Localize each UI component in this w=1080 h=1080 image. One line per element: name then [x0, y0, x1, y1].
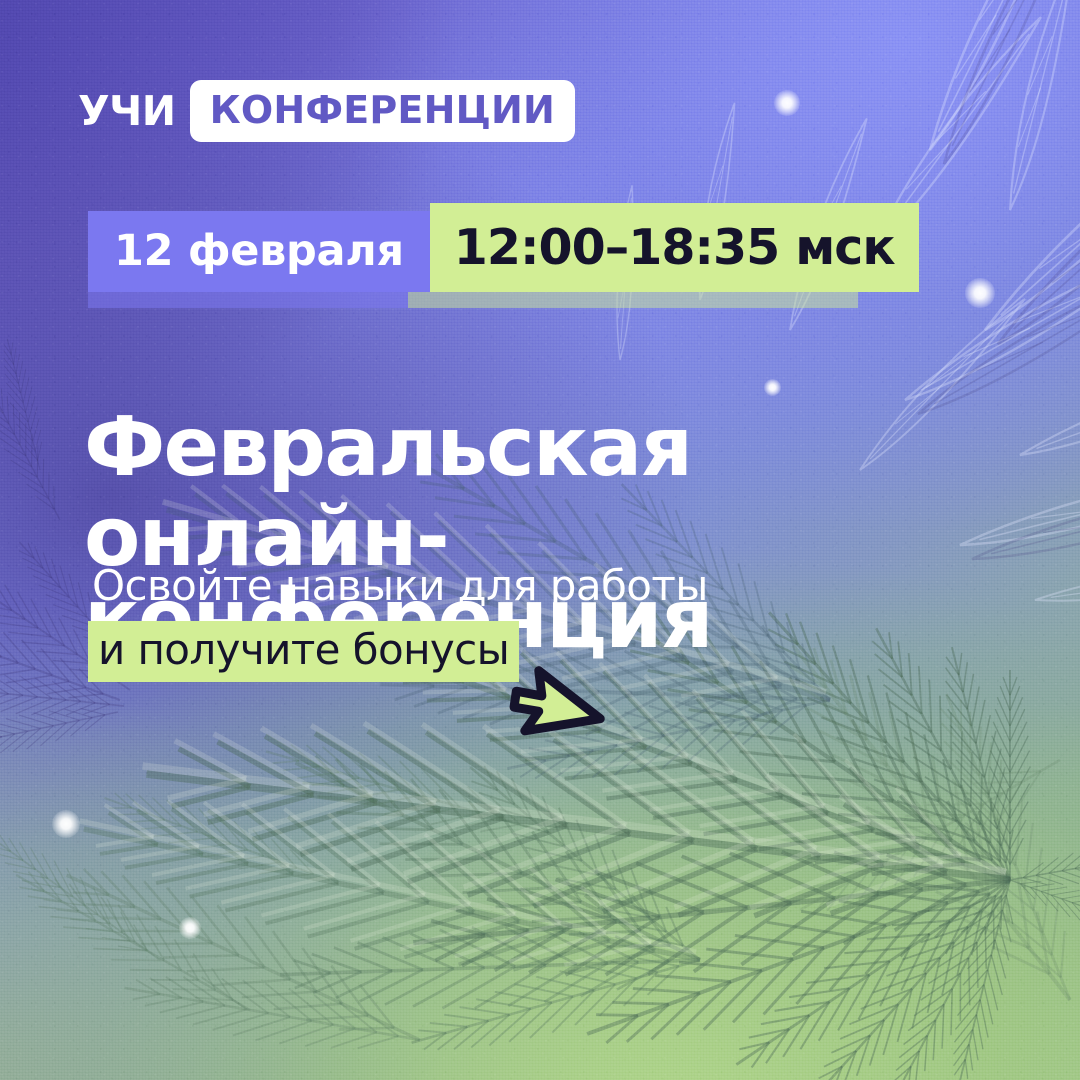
- badge-shadow-strip: [88, 292, 858, 308]
- badge-date-strip: [88, 292, 408, 308]
- subtitle-line-2-highlight: и получите бонусы: [88, 621, 519, 682]
- badge-date: 12 февраля: [88, 211, 430, 292]
- brand-logo-word: УЧИ: [78, 91, 176, 132]
- badge-time: 12:00–18:35 мск: [430, 203, 919, 292]
- brand-logo-pill: КОНФЕРЕНЦИИ: [190, 80, 575, 142]
- event-badges: 12 февраля 12:00–18:35 мск: [88, 203, 919, 292]
- headline-line-1: Февральская: [84, 400, 691, 495]
- subtitle: Освойте навыки для работы и получите бон…: [92, 565, 708, 682]
- promo-poster: УЧИ КОНФЕРЕНЦИИ 12 февраля 12:00–18:35 м…: [0, 0, 1080, 1080]
- brand-logo: УЧИ КОНФЕРЕНЦИИ: [78, 80, 575, 142]
- badge-time-strip: [408, 292, 858, 308]
- subtitle-line-1: Освойте навыки для работы: [92, 565, 708, 607]
